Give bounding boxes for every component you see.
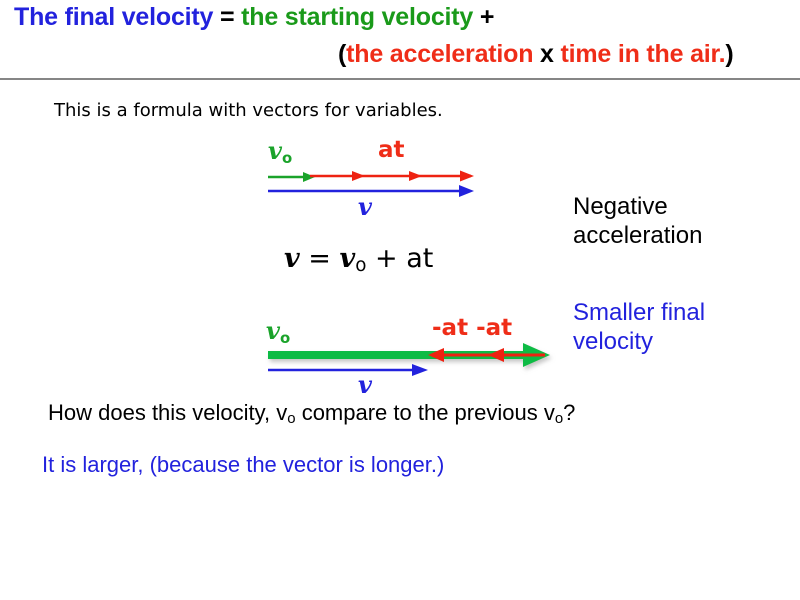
bottom-question-part1: How does this velocity, v — [48, 400, 287, 425]
bottom-question: How does this velocity, vo compare to th… — [48, 400, 575, 426]
equation-v0-sub: o — [355, 255, 366, 276]
title-time-in-air: time in the air. — [561, 40, 726, 68]
title-equals: = — [213, 3, 241, 31]
title-close-paren: ) — [725, 40, 733, 68]
diagram2-label-v0: vo — [266, 316, 290, 345]
bottom-question-part3: ? — [563, 400, 575, 425]
slide-canvas: The final velocity = the starting veloci… — [0, 0, 800, 600]
note-smaller-final-velocity-line1: Smaller final — [573, 298, 705, 327]
bottom-answer: It is larger, (because the vector is lon… — [42, 452, 444, 478]
note-negative-acceleration: Negative acceleration — [573, 192, 702, 250]
bottom-question-part2: compare to the previous v — [296, 400, 555, 425]
bottom-question-sub1: o — [287, 410, 295, 427]
title-plus: + — [473, 3, 494, 31]
diagram1-label-at: at — [378, 137, 405, 163]
title-starting-velocity: the starting velocity — [241, 3, 473, 31]
diagram2-label-at: -at -at — [432, 315, 512, 341]
title-line-2: (the acceleration x time in the air.) — [338, 40, 734, 69]
diagram2-label-v: v — [358, 370, 372, 399]
title-times: x — [533, 40, 560, 68]
equation-at: at — [406, 243, 433, 274]
equation-equals: = — [300, 243, 340, 274]
note-smaller-final-velocity: Smaller final velocity — [573, 298, 705, 356]
title-acceleration: the acceleration — [346, 40, 533, 68]
note-negative-acceleration-line1: Negative — [573, 192, 702, 221]
vector-diagram-positive: vo at v — [240, 130, 510, 230]
vector-diagram-negative: vo -at -at — [240, 310, 570, 400]
note-negative-acceleration-line2: acceleration — [573, 221, 702, 250]
diagram1-arrow-v0 — [268, 172, 315, 182]
diagram2-arrows — [240, 342, 570, 402]
formula-note: This is a formula with vectors for varia… — [54, 100, 443, 121]
diagram1-arrow-at — [310, 171, 474, 182]
diagram1-label-v0: vo — [268, 136, 292, 165]
title-open-paren: ( — [338, 40, 346, 68]
slide-header: The final velocity = the starting veloci… — [0, 0, 800, 78]
equation-v0: v — [340, 243, 356, 274]
diagram1-arrows — [240, 164, 510, 224]
diagram2-arrow-v — [268, 364, 428, 376]
equation-plus: + — [366, 243, 406, 274]
bottom-question-sub2: o — [555, 410, 563, 427]
diagram1-label-v: v — [358, 192, 372, 221]
equation-v-equals-v0-plus-at: v = vo + at — [284, 243, 433, 274]
title-final-velocity: The final velocity — [14, 3, 213, 31]
equation-v: v — [284, 243, 300, 274]
title-line-1: The final velocity = the starting veloci… — [14, 3, 494, 32]
note-smaller-final-velocity-line2: velocity — [573, 327, 705, 356]
header-divider — [0, 78, 800, 80]
